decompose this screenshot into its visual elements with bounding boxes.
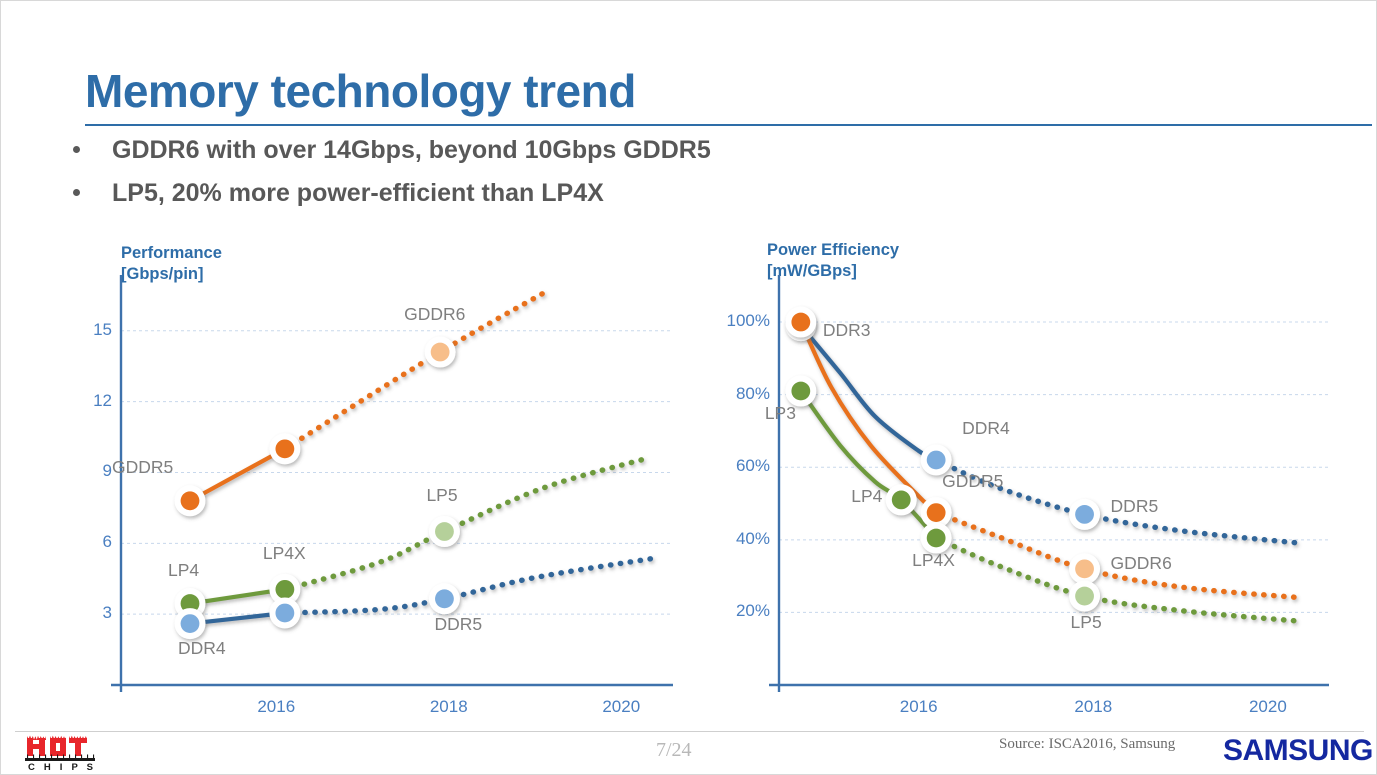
data-point-marker: [1069, 553, 1100, 584]
y-axis-tick-label: 60%: [736, 456, 770, 476]
samsung-logo: SAMSUNG: [1223, 734, 1373, 768]
page-number: 7/24: [656, 739, 692, 762]
chart-power-efficiency: Power Efficiency [mW/GBps] 20%40%60%80%1…: [707, 233, 1347, 723]
data-point-marker: [785, 376, 816, 407]
data-point-label-lp5: LP5: [1071, 612, 1102, 633]
data-point-marker: [425, 337, 456, 368]
bullet-item-1: LP5, 20% more power-efficient than LP4X: [73, 179, 604, 208]
data-point-label-gddr5: GDDR5: [942, 471, 1003, 492]
y-axis-tick-label: 9: [103, 461, 112, 481]
title-underline: [85, 124, 1372, 126]
bullet-dot-icon: [73, 146, 80, 153]
data-point-marker: [429, 583, 460, 614]
data-point-label-gddr5: GDDR5: [112, 457, 173, 478]
data-point-marker: [785, 307, 816, 338]
bullet-text-1: LP5, 20% more power-efficient than LP4X: [112, 179, 604, 208]
data-point-marker: [269, 597, 300, 628]
series-line-gddr: [190, 293, 544, 501]
y-axis-tick-label: 15: [93, 320, 112, 340]
y-axis-tick-label: 80%: [736, 384, 770, 404]
page-title: Memory technology trend: [85, 64, 636, 118]
data-point-marker: [175, 485, 206, 516]
x-axis-tick-label: 2020: [581, 697, 661, 717]
series-line-lpddr: [190, 458, 647, 603]
data-point-label-lp4: LP4: [168, 560, 199, 581]
x-axis-tick-label: 2020: [1228, 697, 1308, 717]
hotchips-logo-icon: C H I P S: [23, 734, 109, 772]
y-axis-tick-label: 12: [93, 391, 112, 411]
chart-performance: Performance [Gbps/pin] 36912152016201820…: [77, 233, 677, 723]
data-point-label-ddr4: DDR4: [962, 418, 1010, 439]
y-axis-tick-label: 100%: [727, 311, 770, 331]
data-point-marker: [175, 608, 206, 639]
series-line-gddr: [801, 322, 1303, 598]
data-point-label-ddr5: DDR5: [1111, 496, 1159, 517]
data-point-label-lp4: LP4: [851, 486, 882, 507]
data-point-marker: [269, 433, 300, 464]
slide-canvas: Memory technology trend GDDR6 with over …: [0, 0, 1377, 775]
bullet-text-0: GDDR6 with over 14Gbps, beyond 10Gbps GD…: [112, 136, 711, 165]
data-point-label-lp4x: LP4X: [263, 543, 306, 564]
data-point-marker: [429, 516, 460, 547]
x-axis-tick-label: 2016: [879, 697, 959, 717]
data-point-label-ddr5: DDR5: [434, 614, 482, 635]
chart-plot-power_efficiency: [707, 233, 1347, 723]
data-point-label-lp5: LP5: [426, 485, 457, 506]
data-point-label-lp4x: LP4X: [912, 550, 955, 571]
data-point-label-gddr6: GDDR6: [404, 304, 465, 325]
source-caption: Source: ISCA2016, Samsung: [999, 736, 1175, 753]
x-axis-tick-label: 2016: [236, 697, 316, 717]
data-point-label-lp3: LP3: [765, 403, 796, 424]
data-point-label-gddr6: GDDR6: [1111, 553, 1172, 574]
x-axis-tick-label: 2018: [409, 697, 489, 717]
data-point-label-ddr4: DDR4: [178, 638, 226, 659]
data-point-marker: [1069, 581, 1100, 612]
y-axis-tick-label: 20%: [736, 601, 770, 621]
svg-text:C H I P S: C H I P S: [28, 762, 96, 772]
y-axis-tick-label: 6: [103, 532, 112, 552]
y-axis-tick-label: 40%: [736, 529, 770, 549]
data-point-label-ddr3: DDR3: [823, 320, 871, 341]
footer-divider: [15, 731, 1364, 732]
series-line-ddr: [801, 326, 1303, 544]
data-point-marker: [921, 523, 952, 554]
x-axis-tick-label: 2018: [1053, 697, 1133, 717]
y-axis-tick-label: 3: [103, 603, 112, 623]
bullet-dot-icon: [73, 189, 80, 196]
data-point-marker: [886, 484, 917, 515]
chart-plot-performance: [77, 233, 677, 723]
bullet-item-0: GDDR6 with over 14Gbps, beyond 10Gbps GD…: [73, 136, 711, 165]
data-point-marker: [1069, 499, 1100, 530]
